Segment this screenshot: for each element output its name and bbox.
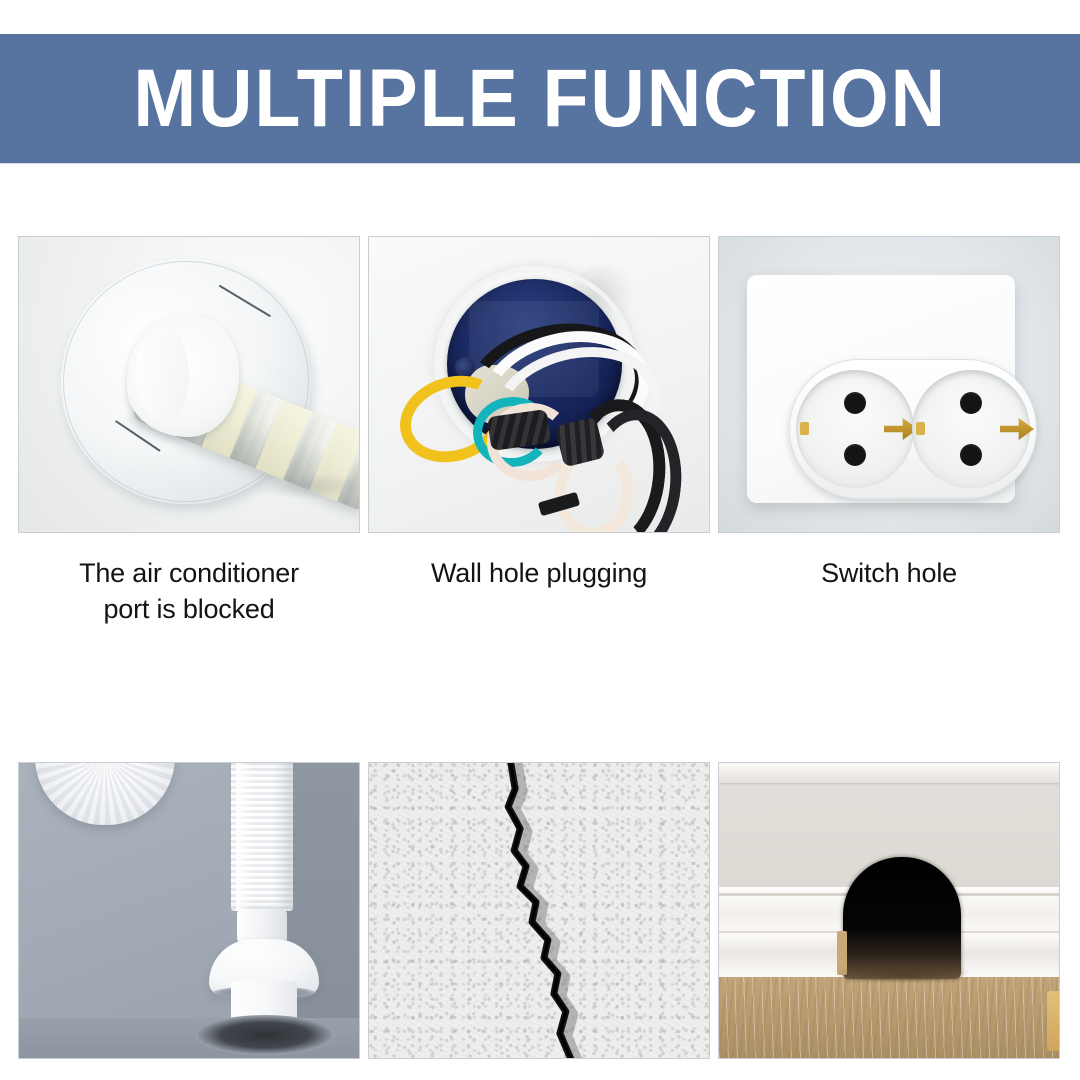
photo-switch-hole: [718, 236, 1060, 533]
floor-edge-strip: [1047, 991, 1060, 1051]
feature-item-pipe-mouth[interactable]: Pipe mouth plugging: [18, 762, 360, 1080]
feature-item-air-conditioner-port[interactable]: The air conditioner port is blocked: [18, 236, 360, 627]
floor-hole-opening: [195, 1015, 335, 1055]
socket-pin-hole-bottom: [844, 444, 866, 466]
caption-air-conditioner-port: The air conditioner port is blocked: [18, 533, 360, 627]
caption-switch-hole: Switch hole: [718, 533, 1060, 591]
infographic-page: MULTIPLE FUNCTION: [0, 0, 1080, 1080]
pipe-tape-3: [255, 400, 311, 480]
caption-pipe-mouth: Pipe mouth plugging: [18, 1059, 360, 1080]
socket-faceplate: [747, 275, 1015, 503]
photo-air-conditioner-port: [18, 236, 360, 533]
socket-side-tab: [800, 422, 809, 435]
wall-crack-graphic: [369, 763, 709, 1058]
feature-item-wall-hole[interactable]: Wall hole plugging: [368, 236, 710, 627]
socket-pin-hole-top: [844, 392, 866, 414]
mouse-hole-opening: [843, 857, 961, 979]
feature-item-switch-hole[interactable]: Switch hole: [718, 236, 1060, 627]
flexible-duct-pipe: [231, 762, 293, 911]
photo-mouse-hole: [718, 762, 1060, 1059]
socket-earth-contact: [1000, 418, 1034, 440]
socket-oval-body: [789, 359, 1037, 499]
caption-mouse-hole: Mouse hole: [718, 1059, 1060, 1080]
upper-molding: [719, 763, 1060, 783]
pipe-shadow: [249, 473, 360, 499]
photo-pipe-mouth: [18, 762, 360, 1059]
wood-floor: [719, 977, 1060, 1059]
pipe-neck-connector: [237, 909, 287, 943]
feature-item-wall-gap[interactable]: Wall gap plugging: [368, 762, 710, 1080]
socket-pin-hole-bottom: [960, 444, 982, 466]
page-title: MULTIPLE FUNCTION: [133, 58, 947, 140]
feature-item-mouse-hole[interactable]: Mouse hole: [718, 762, 1060, 1080]
sealing-putty: [127, 315, 239, 437]
caption-wall-hole: Wall hole plugging: [368, 533, 710, 591]
photo-wall-gap: [368, 762, 710, 1059]
feature-grid: The air conditioner port is blocked: [18, 236, 1062, 1080]
feature-row-1: The air conditioner port is blocked: [18, 236, 1062, 627]
header-banner: MULTIPLE FUNCTION: [0, 34, 1080, 163]
feature-row-2: Pipe mouth plugging Wall gap plugging: [18, 762, 1062, 1080]
photo-wall-hole: [368, 236, 710, 533]
mouse-hole-shadow: [837, 963, 969, 983]
socket-outlet-right: [912, 370, 1030, 488]
socket-side-tab: [916, 422, 925, 435]
socket-pin-hole-top: [960, 392, 982, 414]
socket-outlet-left: [796, 370, 914, 488]
caption-wall-gap: Wall gap plugging: [368, 1059, 710, 1080]
